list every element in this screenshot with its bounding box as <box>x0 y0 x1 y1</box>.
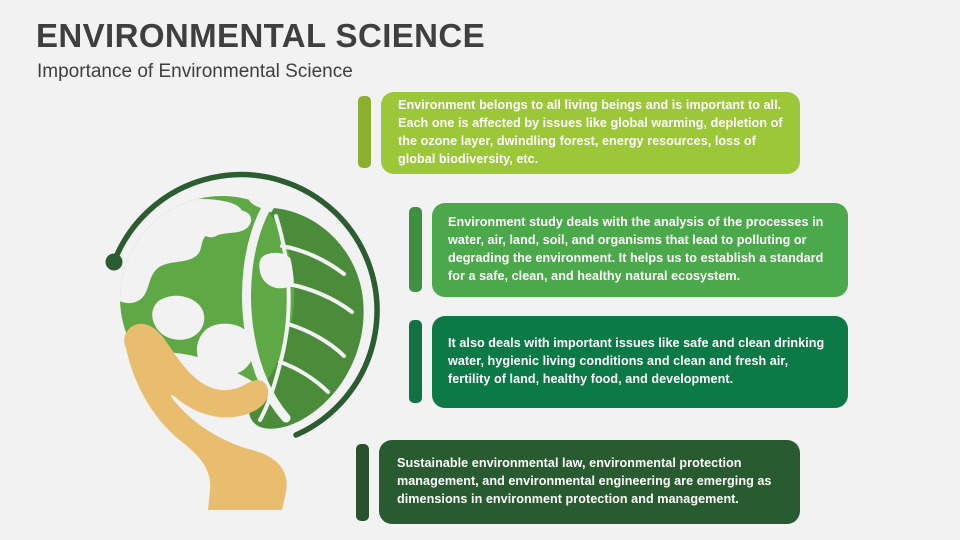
accent-bar-3 <box>409 320 422 403</box>
info-box-3[interactable]: It also deals with important issues like… <box>432 316 848 408</box>
accent-bar-4 <box>356 444 369 521</box>
hand-holding-globe-with-leaf-illustration <box>100 150 400 510</box>
slide-canvas: ENVIRONMENTAL SCIENCE Importance of Envi… <box>0 0 960 540</box>
info-box-4-text: Sustainable environmental law, environme… <box>397 455 782 509</box>
accent-bar-2 <box>409 207 422 292</box>
page-title: ENVIRONMENTAL SCIENCE <box>36 17 485 55</box>
info-box-2[interactable]: Environment study deals with the analysi… <box>432 203 848 297</box>
info-box-3-text: It also deals with important issues like… <box>448 335 832 389</box>
page-subtitle: Importance of Environmental Science <box>37 61 353 83</box>
info-box-4[interactable]: Sustainable environmental law, environme… <box>379 440 800 524</box>
info-box-2-text: Environment study deals with the analysi… <box>448 214 832 286</box>
info-box-1-text: Environment belongs to all living beings… <box>398 97 783 169</box>
info-box-1[interactable]: Environment belongs to all living beings… <box>381 92 800 174</box>
accent-bar-1 <box>358 96 371 168</box>
